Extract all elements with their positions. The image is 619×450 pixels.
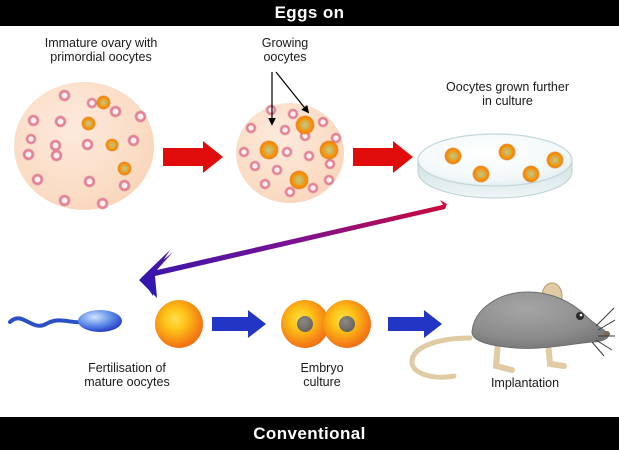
oocyte-primordial [272, 165, 282, 175]
oocyte-primordial [32, 174, 43, 185]
top-banner: Eggs on [0, 0, 619, 26]
oocyte-primordial [110, 106, 121, 117]
oocyte-in-culture [523, 166, 539, 182]
oocyte-primordial [87, 98, 97, 108]
red-arrow-growing-to-culture [353, 140, 413, 174]
oocyte-primordial [119, 180, 130, 191]
oocyte-in-culture [473, 166, 489, 182]
embryo-nucleus [339, 316, 355, 332]
oocyte-growing [97, 96, 110, 109]
oocyte-primordial [55, 116, 66, 127]
oocyte-primordial [59, 195, 70, 206]
top-banner-text: Eggs on [275, 3, 345, 23]
oocyte-growing [320, 141, 338, 159]
oocyte-primordial [59, 90, 70, 101]
oocyte-primordial [128, 135, 139, 146]
embryo-cell [281, 300, 329, 348]
oocyte-primordial [304, 151, 314, 161]
oocyte-growing [260, 141, 278, 159]
oocyte-primordial [51, 150, 62, 161]
oocyte-in-culture [445, 148, 461, 164]
blue-arrow-fertilisation-to-embryo [212, 310, 268, 338]
sperm-illustration [8, 296, 126, 347]
oocyte-growing [118, 162, 131, 175]
oocyte-primordial [23, 149, 34, 160]
oocyte-primordial [82, 139, 93, 150]
bottom-banner: Conventional [0, 417, 619, 450]
mature-oocyte [155, 300, 203, 348]
mouse-illustration [400, 280, 615, 395]
oocyte-primordial [84, 176, 95, 187]
oocyte-growing [290, 171, 308, 189]
oocyte-in-culture [547, 152, 563, 168]
diagram-canvas: Eggs on Immature ovary with primordial o… [0, 0, 619, 450]
growing-oocytes-leader-arrows [250, 62, 340, 142]
oocyte-growing [82, 117, 95, 130]
oocyte-primordial [26, 134, 36, 144]
oocyte-in-culture [499, 144, 515, 160]
oocyte-primordial [324, 175, 334, 185]
oocyte-primordial [260, 179, 270, 189]
oocyte-primordial [282, 147, 292, 157]
oocyte-primordial [28, 115, 39, 126]
oocyte-primordial [135, 111, 146, 122]
oocyte-primordial [325, 159, 335, 169]
label-oocytes-grown-in-culture: Oocytes grown further in culture [400, 80, 615, 108]
embryo-nucleus [297, 316, 313, 332]
label-embryo-culture: Embryo culture [262, 361, 382, 389]
embryo-cell [323, 300, 371, 348]
oocyte-primordial [250, 161, 260, 171]
label-immature-ovary: Immature ovary with primordial oocytes [6, 36, 196, 64]
immature-ovary-illustration [14, 82, 154, 210]
bottom-banner-text: Conventional [253, 424, 365, 444]
label-growing-oocytes: Growing oocytes [230, 36, 340, 64]
red-arrow-ovary-to-growing [163, 140, 223, 174]
oocyte-primordial [239, 147, 249, 157]
oocyte-growing [106, 139, 118, 151]
label-fertilisation: Fertilisation of mature oocytes [42, 361, 212, 389]
